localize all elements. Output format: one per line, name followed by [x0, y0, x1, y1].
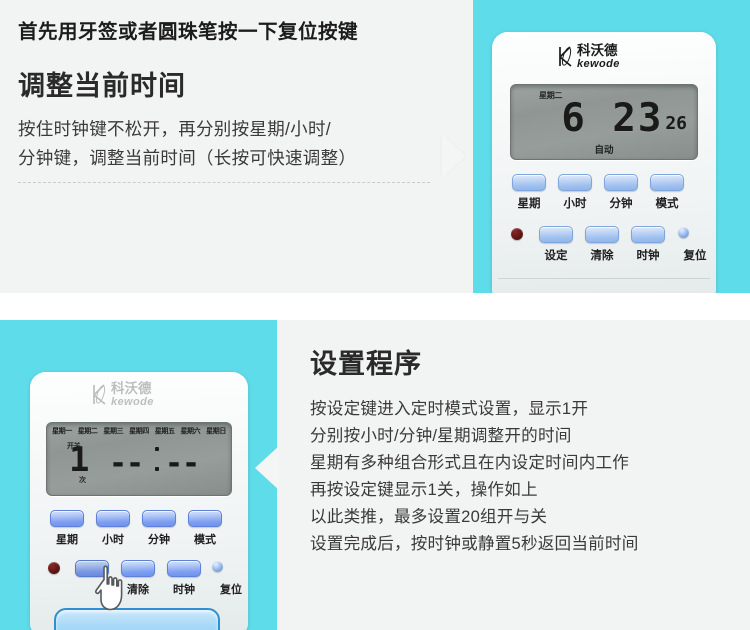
brand-name-en: kewode — [111, 397, 154, 408]
lcd-day-thu: 星期四 — [129, 426, 149, 436]
outlet-socket — [54, 608, 220, 630]
instruction-line: 分别按小时/分钟/星期调整开的时间 — [310, 422, 740, 449]
brand-logo: 科沃德 kewode — [558, 44, 620, 70]
power-led-icon — [48, 562, 60, 574]
lcd-time-main: 6 23 — [561, 101, 663, 137]
button-week[interactable] — [512, 174, 546, 191]
k-logo-icon — [558, 46, 574, 67]
timer-device-front: 科沃德 kewode 星期二 6 23 26 自动 星期 小时 — [492, 32, 716, 293]
button-label-row-secondary: 设定 清除 时钟 复位 — [539, 247, 713, 263]
instruction-line: 再按设定键显示1关，操作如上 — [310, 476, 740, 503]
button-mode[interactable] — [650, 174, 684, 191]
lcd-day-of-week-row: 星期一 星期二 星期三 星期四 星期五 星期六 星期日 — [47, 426, 231, 436]
timer-device-front: 科沃德 kewode 星期一 星期二 星期三 星期四 星期五 星期六 星期日 开… — [30, 372, 248, 630]
lcd-time-seconds: 26 — [665, 113, 687, 134]
lcd-day-tue: 星期二 — [78, 426, 98, 436]
button-row-primary — [512, 174, 684, 191]
label-week: 星期 — [512, 195, 546, 211]
button-label-row-primary: 星期 小时 分钟 模式 — [512, 195, 684, 211]
page-title: 调整当前时间 — [18, 70, 463, 102]
label-clear: 清除 — [585, 247, 619, 263]
divider — [18, 182, 430, 183]
panel-program-setup: 设置程序 按设定键进入定时模式设置，显示1开 分别按小时/分钟/星期调整开的时间… — [0, 320, 750, 630]
power-led-icon — [511, 228, 523, 240]
lcd-day-sun: 星期日 — [206, 426, 226, 436]
lcd-day-of-week: 星期二 — [539, 90, 562, 101]
lcd-day-wed: 星期三 — [103, 426, 123, 436]
instruction-body: 按设定键进入定时模式设置，显示1开 分别按小时/分钟/星期调整开的时间 星期有多… — [310, 395, 740, 557]
brand-name-en: kewode — [577, 59, 620, 70]
label-reset: 复位 — [213, 581, 249, 597]
instruction-line: 分钟键，调整当前时间（长按可快速调整） — [18, 144, 463, 173]
button-week[interactable] — [50, 510, 84, 527]
label-mode: 模式 — [650, 195, 684, 211]
panel-text-block: 设置程序 按设定键进入定时模式设置，显示1开 分别按小时/分钟/星期调整开的时间… — [310, 342, 740, 557]
label-clock: 时钟 — [631, 247, 665, 263]
panel-adjust-current-time: 首先用牙签或者圆珠笔按一下复位按键 调整当前时间 按住时钟键不松开，再分别按星期… — [0, 0, 750, 293]
button-hour[interactable] — [558, 174, 592, 191]
reset-pinhole-icon[interactable] — [212, 561, 223, 572]
case-seam — [498, 278, 710, 279]
label-mode: 模式 — [188, 531, 222, 547]
button-mode[interactable] — [188, 510, 222, 527]
brand-logo: 科沃德 kewode — [92, 382, 154, 408]
kicker-text: 首先用牙签或者圆珠笔按一下复位按键 — [18, 20, 463, 44]
label-hour: 小时 — [558, 195, 592, 211]
lcd-mode-label: 自动 — [511, 142, 697, 156]
button-clear[interactable] — [585, 226, 619, 243]
k-logo-icon — [92, 384, 108, 405]
label-minute: 分钟 — [142, 531, 176, 547]
lcd-day-sat: 星期六 — [180, 426, 200, 436]
lcd-time-hours: -- — [109, 449, 143, 479]
label-clock: 时钟 — [167, 581, 201, 597]
lcd-day-mon: 星期一 — [52, 426, 72, 436]
lcd-program-mark-bottom: 次 — [79, 475, 86, 485]
arrow-right-icon — [442, 134, 466, 178]
instruction-line: 星期有多种组合形式且在内设定时间内工作 — [310, 449, 740, 476]
label-hour: 小时 — [96, 531, 130, 547]
button-clock[interactable] — [631, 226, 665, 243]
instruction-body: 按住时钟键不松开，再分别按星期/小时/ 分钟键，调整当前时间（长按可快速调整） — [18, 115, 463, 173]
label-week: 星期 — [50, 531, 84, 547]
lcd-screen: 星期一 星期二 星期三 星期四 星期五 星期六 星期日 开关 1 次 -- -- — [46, 422, 232, 496]
instruction-line: 按设定键进入定时模式设置，显示1开 — [310, 395, 740, 422]
reset-pinhole-icon[interactable] — [678, 227, 689, 238]
label-set: 设定 — [539, 247, 573, 263]
lcd-screen: 星期二 6 23 26 自动 — [510, 84, 698, 160]
instruction-line: 设置完成后，按时钟或静置5秒返回当前时间 — [310, 530, 740, 557]
lcd-day-fri: 星期五 — [155, 426, 175, 436]
page-title: 设置程序 — [310, 342, 740, 381]
lcd-colon-icon — [155, 447, 159, 473]
brand-name-cn: 科沃德 — [577, 44, 620, 58]
button-minute[interactable] — [604, 174, 638, 191]
lcd-time-group: 6 23 26 — [511, 101, 697, 137]
button-set[interactable] — [539, 226, 573, 243]
button-hour[interactable] — [96, 510, 130, 527]
label-reset: 复位 — [677, 247, 713, 263]
button-row-secondary — [539, 226, 665, 243]
arrow-left-icon — [255, 446, 279, 490]
brand-name-cn: 科沃德 — [111, 382, 154, 396]
label-minute: 分钟 — [604, 195, 638, 211]
panel-text-block: 首先用牙签或者圆珠笔按一下复位按键 调整当前时间 按住时钟键不松开，再分别按星期… — [18, 20, 463, 183]
instruction-line: 以此类推，最多设置20组开与关 — [310, 503, 740, 530]
button-row-primary — [50, 510, 222, 527]
button-clock[interactable] — [167, 560, 201, 577]
button-label-row-primary: 星期 小时 分钟 模式 — [50, 531, 222, 547]
instruction-line: 按住时钟键不松开，再分别按星期/小时/ — [18, 115, 463, 144]
hand-pointer-cursor-icon — [92, 564, 132, 614]
lcd-time-minutes: -- — [165, 449, 199, 479]
product-instruction-page: 首先用牙签或者圆珠笔按一下复位按键 调整当前时间 按住时钟键不松开，再分别按星期… — [0, 0, 750, 630]
lcd-program-number: 1 — [69, 445, 89, 476]
button-minute[interactable] — [142, 510, 176, 527]
